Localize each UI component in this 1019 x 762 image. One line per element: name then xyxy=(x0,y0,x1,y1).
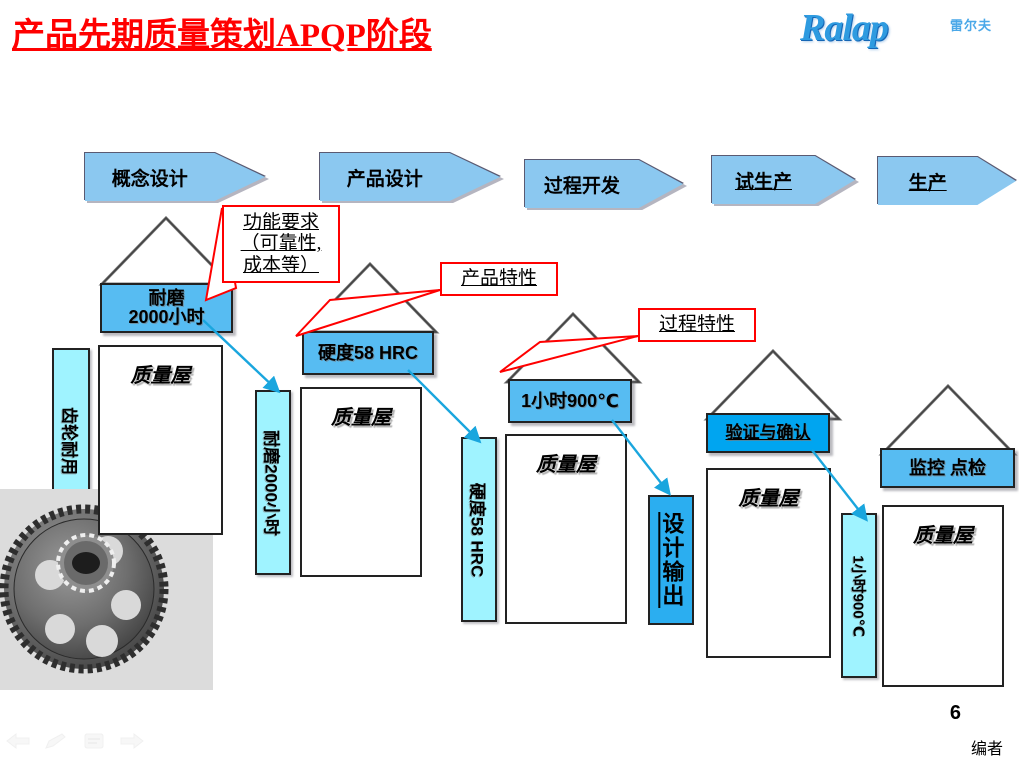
callout-functional-requirements[interactable]: 功能要求 （可靠性, 成本等） xyxy=(222,205,340,283)
callout-process-characteristics[interactable]: 过程特性 xyxy=(638,308,756,342)
callout-tails xyxy=(0,0,1019,762)
slide-canvas: 产品先期质量策划APQP阶段 Ralap 雷尔夫 概念设计 产品设计 过程开发 … xyxy=(0,0,1019,762)
callout-product-characteristics[interactable]: 产品特性 xyxy=(440,262,558,296)
